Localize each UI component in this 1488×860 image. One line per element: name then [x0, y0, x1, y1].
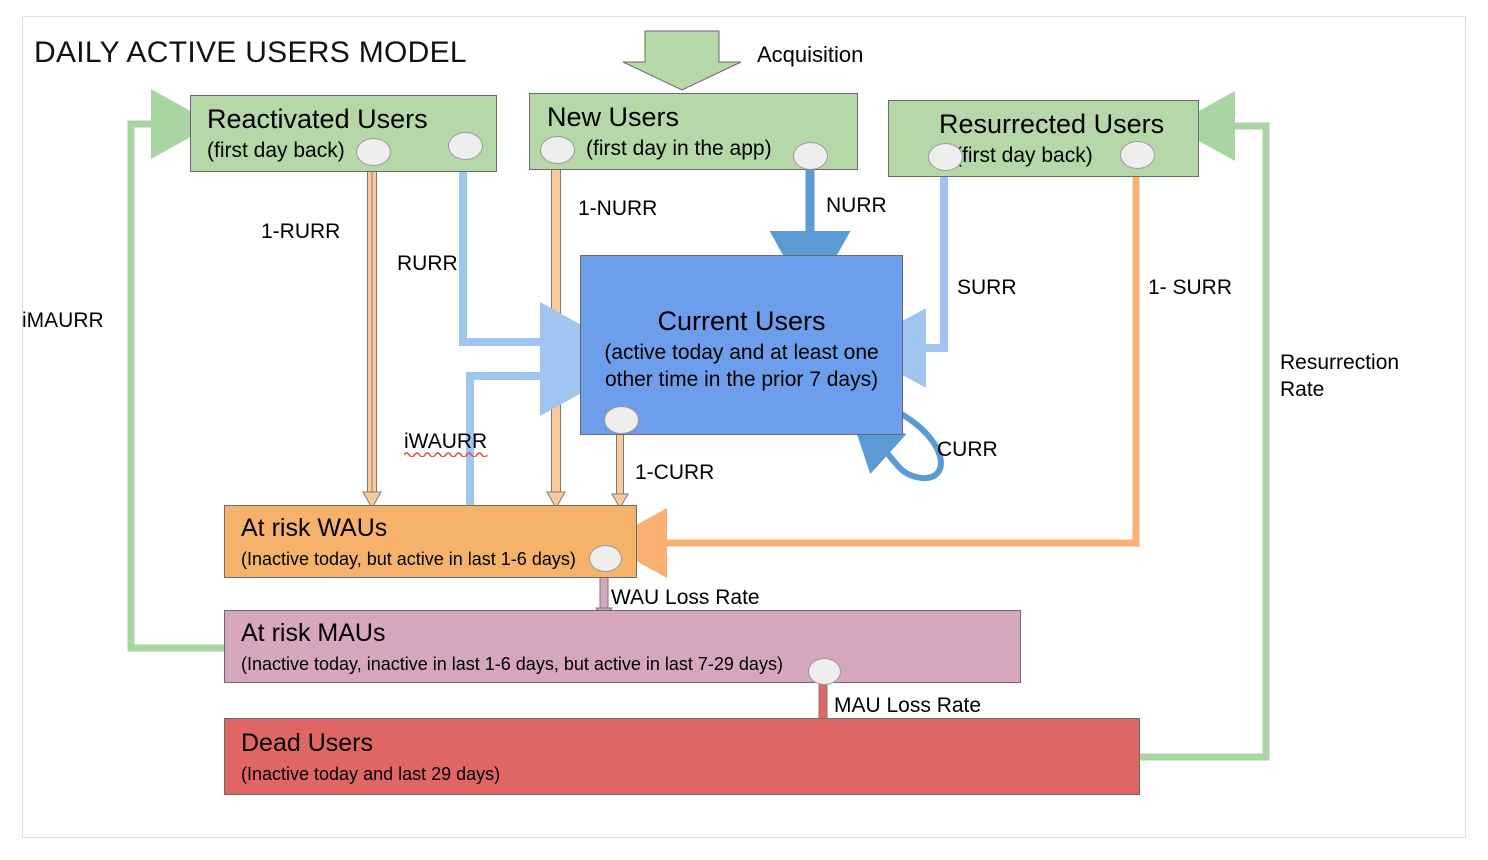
node-subtitle: (first day in the app) [586, 137, 772, 161]
node-title: Reactivated Users [207, 104, 428, 135]
node-title: Resurrected Users [939, 109, 1164, 140]
node-title: At risk MAUs [241, 619, 385, 648]
node-title: Dead Users [241, 729, 373, 758]
valve-waus-loss-rate [589, 545, 622, 572]
valve-resurrected-surr [928, 143, 963, 171]
valve-new-1-nurr [540, 136, 575, 164]
node-subtitle: (first day back) [955, 144, 1093, 168]
node-subtitle: (first day back) [207, 139, 345, 163]
flow-resurrection-rate [1140, 126, 1266, 757]
node-title: Current Users [581, 306, 902, 337]
node-title: New Users [547, 102, 679, 133]
node-reactivated-users[interactable]: Reactivated Users (first day back) [190, 95, 497, 172]
flow-1-curr [612, 428, 628, 508]
flow-surr [918, 160, 944, 348]
valve-reactivated-1-rurr [356, 138, 391, 166]
label-1-curr: 1-CURR [635, 460, 714, 485]
spellcheck-squiggle-icon [404, 451, 488, 457]
label-nurr: NURR [826, 193, 887, 218]
node-subtitle: (Inactive today, but active in last 1-6 … [241, 549, 576, 570]
flow-imaurr [131, 124, 224, 648]
node-subtitle: (Inactive today and last 29 days) [241, 764, 500, 785]
label-mau-loss-rate: MAU Loss Rate [834, 693, 981, 718]
label-resurrection-rate-line1: Resurrection [1280, 350, 1399, 375]
flow-rurr [463, 160, 548, 342]
valve-reactivated-rurr [448, 132, 483, 160]
label-1-surr: 1- SURR [1148, 275, 1232, 300]
node-dead-users[interactable]: Dead Users (Inactive today and last 29 d… [224, 718, 1140, 795]
valve-current-1-curr [604, 406, 639, 434]
node-subtitle-line2: other time in the prior 7 days) [581, 368, 902, 392]
node-at-risk-maus[interactable]: At risk MAUs (Inactive today, inactive i… [224, 610, 1021, 683]
label-1-nurr: 1-NURR [578, 196, 657, 221]
node-subtitle: (Inactive today, inactive in last 1-6 da… [241, 654, 783, 675]
node-title: At risk WAUs [241, 514, 387, 543]
label-curr: CURR [937, 437, 998, 462]
label-surr: SURR [957, 275, 1017, 300]
label-wau-loss-rate: WAU Loss Rate [611, 585, 760, 610]
diagram-canvas: DAILY ACTIVE USERS MODEL [0, 0, 1488, 860]
label-imaurr: iMAURR [22, 308, 104, 333]
node-at-risk-waus[interactable]: At risk WAUs (Inactive today, but active… [224, 505, 637, 578]
flow-1-rurr [363, 158, 381, 508]
label-resurrection-rate-line2: Rate [1280, 377, 1324, 402]
label-1-rurr: 1-RURR [261, 219, 340, 244]
valve-resurrected-1-surr [1120, 141, 1155, 169]
valve-new-nurr [793, 142, 828, 170]
label-rurr: RURR [397, 251, 458, 276]
flow-1-nurr [547, 158, 565, 508]
valve-maus-loss-rate [808, 658, 841, 685]
label-acquisition: Acquisition [757, 42, 863, 67]
node-subtitle-line1: (active today and at least one [581, 341, 902, 365]
